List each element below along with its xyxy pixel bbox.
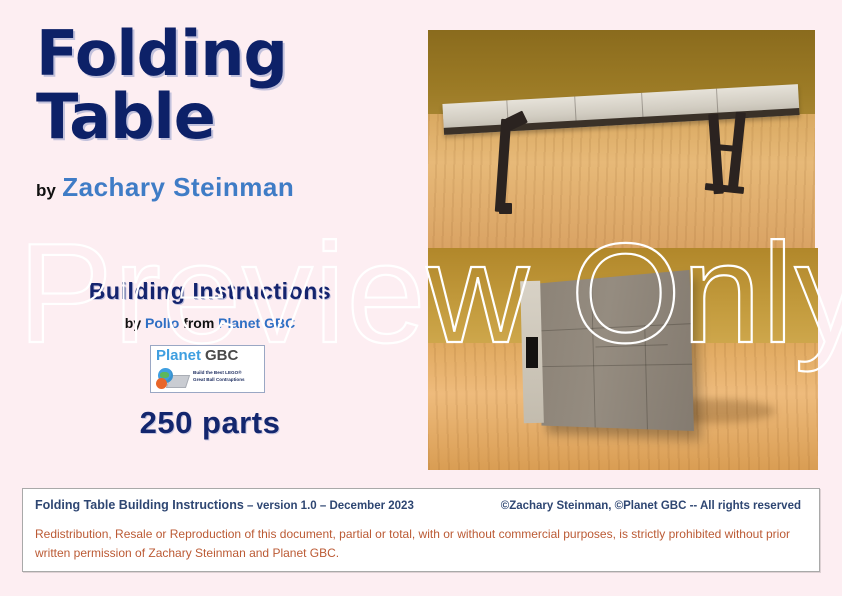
footer-legal-notice: Redistribution, Resale or Reproduction o…: [35, 525, 805, 562]
footer-box: Folding Table Building Instructions – ve…: [22, 488, 820, 572]
table-foot-left: [499, 203, 511, 214]
ball-icon: [156, 378, 167, 389]
planet-gbc-logo: PlanetGBC Build the Best LEGO® Great Bal…: [150, 345, 265, 393]
instructions-from-label: from: [183, 315, 214, 331]
photo-wood-surface: [428, 114, 815, 252]
byline-author-name: Zachary Steinman: [62, 172, 294, 202]
footer-version: – version 1.0 – December 2023: [244, 500, 414, 512]
byline-by-label: by: [36, 181, 56, 200]
photo-folded-table: [428, 248, 818, 470]
footer-doc-name: Folding Table Building Instructions: [35, 498, 244, 512]
logo-word-planet: Planet: [156, 347, 201, 364]
footer-document-title: Folding Table Building Instructions – ve…: [35, 498, 414, 512]
title-block: Folding Table by Zachary Steinman: [36, 22, 416, 200]
logo-tagline: Build the Best LEGO® Great Ball Contrapt…: [193, 370, 263, 384]
page-title: Folding Table: [36, 22, 416, 148]
logo-word-gbc: GBC: [205, 347, 238, 364]
author-byline: by Zachary Steinman: [36, 174, 416, 200]
footer-top-row: Folding Table Building Instructions – ve…: [35, 498, 809, 512]
instructions-by-label: by: [125, 315, 141, 331]
cover-page: Folding Table by Zachary Steinman Buildi…: [0, 0, 842, 596]
instructions-brand: Planet GBC: [218, 315, 295, 331]
folded-table-body: [538, 270, 694, 431]
instructions-heading: Building Instructions: [0, 278, 420, 305]
folded-table-slot: [526, 337, 538, 368]
instructions-nickname: Pollo: [145, 315, 179, 331]
instructions-block: Building Instructions by Pollo from Plan…: [0, 278, 420, 331]
footer-copyright: ©Zachary Steinman, ©Planet GBC -- All ri…: [501, 500, 809, 512]
logo-wordmark: PlanetGBC: [156, 348, 238, 363]
parts-count: 250 parts: [0, 405, 420, 441]
photo-unfolded-table: [428, 30, 815, 252]
instructions-credit: by Pollo from Planet GBC: [0, 315, 420, 331]
logo-artwork: [156, 367, 190, 391]
